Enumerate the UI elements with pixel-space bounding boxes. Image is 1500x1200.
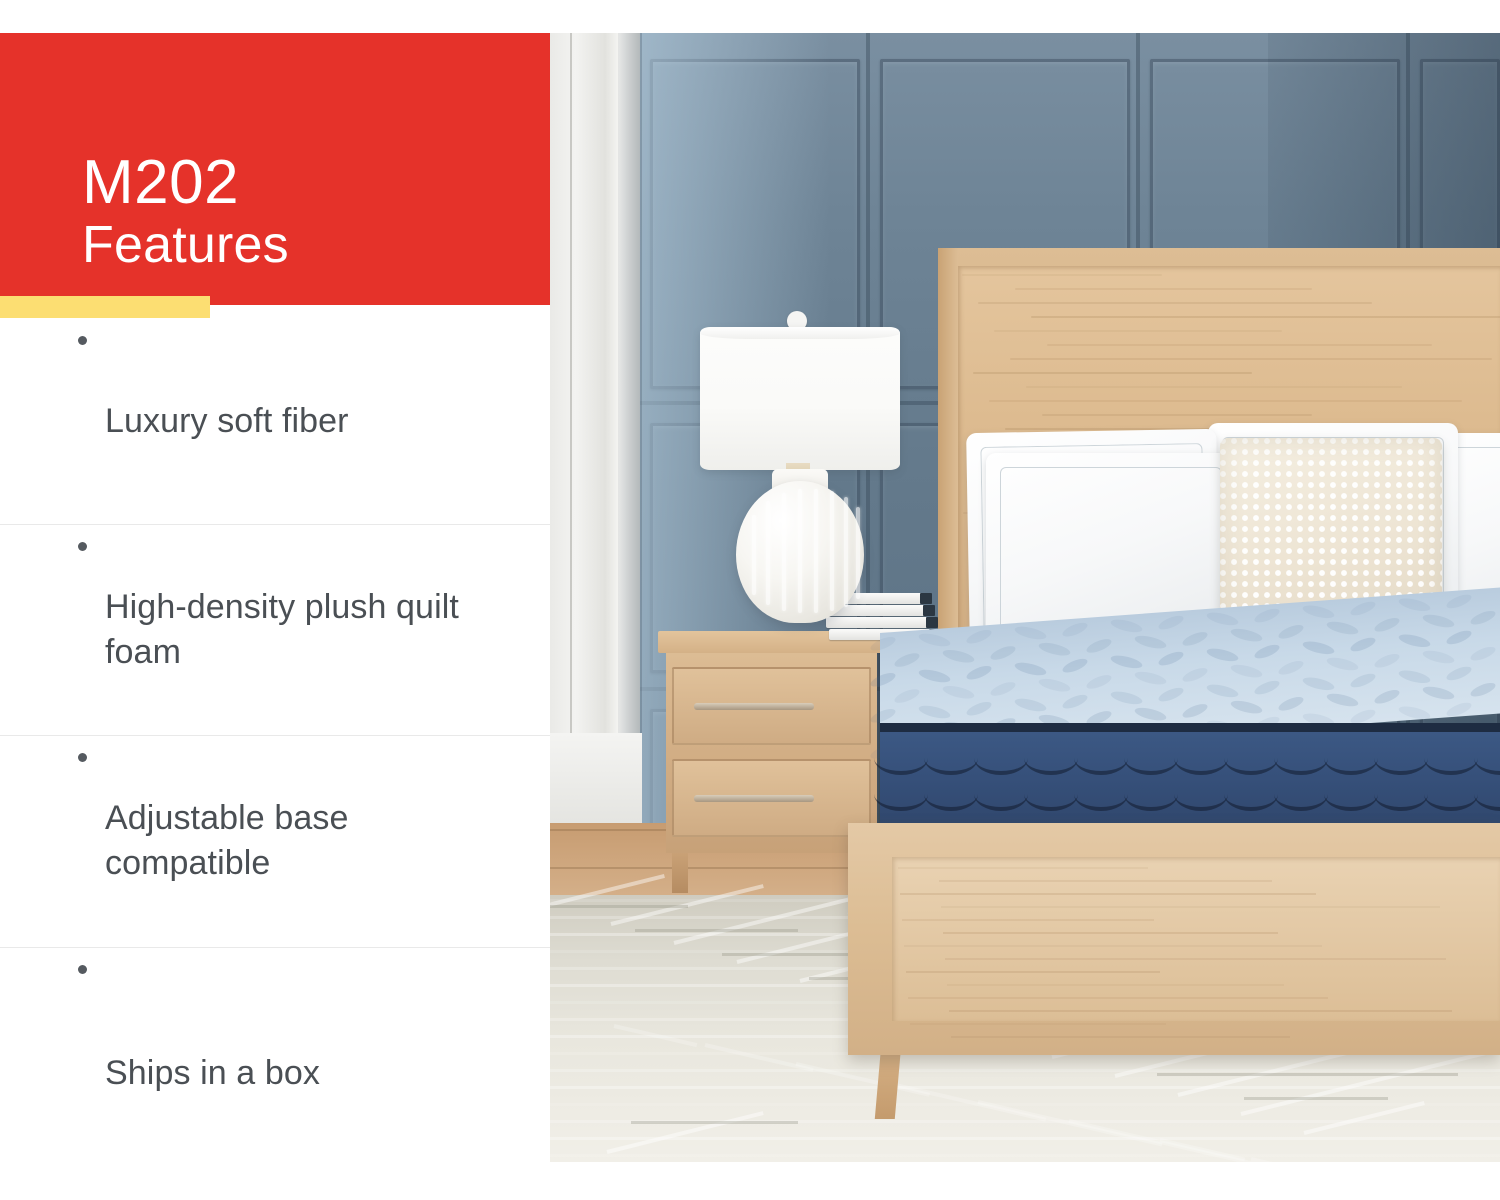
quilt-feather [1445, 664, 1473, 683]
quilt-wave [1324, 777, 1378, 811]
quilt-feather [941, 647, 975, 665]
quilt-feather [1277, 694, 1305, 713]
feature-label: Luxury soft fiber [105, 399, 349, 444]
quilt-feather [1373, 687, 1401, 706]
wood-grain [949, 1010, 1452, 1012]
quilt-feather [1061, 620, 1089, 639]
quilt-feather [1325, 691, 1359, 709]
quilt-feather [1085, 636, 1113, 655]
quilt-feather [1349, 635, 1377, 654]
feature-label: High-density plush quilt foam [105, 585, 505, 675]
quilt-wave [1074, 741, 1128, 775]
mattress-piping [880, 723, 1500, 732]
lamp-rib [830, 491, 834, 611]
quilt-feather [1061, 692, 1089, 711]
quilt-feather [1469, 680, 1497, 699]
wood-grain [947, 984, 1284, 986]
quilt-feather [1061, 656, 1089, 675]
quilt-wave [1424, 777, 1478, 811]
rug-shade-line [631, 1121, 798, 1124]
quilt-feather [1109, 653, 1143, 671]
quilt-feather [1325, 619, 1359, 637]
rug-shade-line [1244, 1097, 1388, 1100]
quilt-wave [924, 741, 978, 775]
quilt-feather [1421, 612, 1455, 630]
quilt-feather [965, 699, 993, 718]
quilt-wave [974, 777, 1028, 811]
rug-line [548, 1103, 1500, 1106]
bedroom-photo [548, 33, 1500, 1162]
drawer-handle-lower [694, 795, 814, 802]
quilt-feather [1469, 644, 1497, 663]
quilt-wave [1224, 777, 1278, 811]
table-lamp [700, 311, 900, 636]
quilt-feather [1277, 622, 1305, 641]
quilt-wave [1424, 741, 1478, 775]
slide-canvas: M202 Features Luxury soft fiber High-den… [0, 0, 1500, 1200]
lamp-rib [752, 515, 756, 595]
quilt-wave [1374, 741, 1428, 775]
quilt-wave [1274, 741, 1328, 775]
quilt-feather [893, 686, 921, 705]
book-spine [926, 617, 938, 628]
wood-grain [1015, 288, 1312, 290]
wood-grain [900, 893, 1316, 895]
wood-grain [973, 372, 1252, 374]
wood-grain [1026, 386, 1402, 388]
quilt-feather [1013, 696, 1047, 714]
page-title-subtitle: Features [82, 215, 522, 275]
quilt-feather [989, 643, 1017, 662]
list-item: Ships in a box [0, 947, 550, 1200]
quilt-feather [1109, 689, 1143, 707]
quilt-feather [1397, 632, 1431, 650]
quilt-feather [941, 683, 975, 701]
quilt-wave [1074, 777, 1128, 811]
quilt-feather [1397, 668, 1431, 686]
book-spine [920, 593, 932, 604]
quilt-feather [1229, 662, 1263, 680]
quilt-wave [1024, 741, 1078, 775]
quilt-feather [917, 631, 951, 649]
quilt-feather [1301, 603, 1335, 621]
quilt-wave [1324, 741, 1378, 775]
lamp-rib [856, 507, 860, 599]
list-item: Adjustable base compatible [0, 735, 550, 947]
quilt-feather [1277, 658, 1305, 677]
quilt-feather [1037, 640, 1071, 658]
quilt-feather [1157, 649, 1185, 668]
quilt-feather [1349, 671, 1377, 690]
lamp-rib [782, 493, 786, 611]
quilt-feather [965, 627, 993, 646]
quilt-feather [1421, 684, 1455, 702]
quilt-feather [1205, 682, 1239, 700]
quilt-feather [1181, 665, 1209, 684]
title-banner: M202 Features [0, 33, 550, 305]
list-item: High-density plush quilt foam [0, 524, 550, 735]
wood-grain [1031, 316, 1500, 318]
left-info-panel: M202 Features Luxury soft fiber High-den… [0, 0, 550, 1200]
baseboard [548, 733, 642, 833]
wood-grain [951, 1036, 1290, 1038]
quilt-feather [1445, 592, 1473, 611]
quilt-wave [1474, 777, 1500, 811]
lamp-shade [700, 327, 900, 470]
title-block: M202 Features [82, 151, 522, 275]
quilt-wave [924, 777, 978, 811]
wood-grain [908, 997, 1328, 999]
rug-shade-line [1157, 1073, 1458, 1076]
quilt-feather [1397, 596, 1431, 614]
wood-grain [943, 932, 1278, 934]
quilt-wave [1224, 741, 1278, 775]
feature-label: Adjustable base compatible [105, 796, 505, 886]
quilt-feather [917, 667, 951, 685]
wood-grain [904, 945, 1322, 947]
rug-chevron [705, 1043, 814, 1072]
wood-grain [1010, 358, 1492, 360]
quilt-feather [1301, 675, 1335, 693]
quilt-wave [1024, 777, 1078, 811]
wood-grain [941, 906, 1440, 908]
quilt-wave [874, 777, 928, 811]
quilt-feather [1229, 626, 1263, 644]
wood-grain [939, 880, 1272, 882]
wood-grain [994, 330, 1282, 332]
rug-chevron [1304, 1101, 1425, 1135]
quilt-wave [1374, 777, 1428, 811]
quilt-feather [1421, 648, 1455, 666]
lamp-rib [844, 497, 848, 607]
quilt-feather [1325, 655, 1359, 673]
lamp-rib [798, 489, 802, 613]
quilt-feather [1205, 610, 1239, 628]
quilt-feather [989, 679, 1017, 698]
quilt-feather [1037, 676, 1071, 694]
wood-grain [945, 958, 1446, 960]
quilt-feather [1253, 642, 1281, 661]
headboard-left-edge [938, 248, 958, 648]
quilt-wave [1124, 777, 1178, 811]
photo-scene [548, 33, 1500, 1162]
quilt-wave [874, 741, 928, 775]
quilt-feather [1229, 698, 1263, 716]
wood-grain [989, 400, 1462, 402]
quilt-feather [965, 663, 993, 682]
rug-chevron [1160, 1138, 1245, 1161]
rug-shade-line [548, 905, 688, 908]
quilt-feather [893, 650, 921, 669]
drawer-handle-upper [694, 703, 814, 710]
wood-grain [910, 1023, 1166, 1025]
feature-label: Ships in a box [105, 1051, 320, 1096]
wood-grain [1042, 414, 1312, 416]
wood-grain [962, 274, 1162, 276]
quilt-feather [1085, 672, 1113, 691]
quilt-wave [1274, 777, 1328, 811]
wood-grain [978, 302, 1372, 304]
quilt-feather [1157, 613, 1185, 632]
wood-grain [898, 867, 1148, 869]
quilt-feather [1253, 678, 1281, 697]
list-item: Luxury soft fiber [0, 318, 550, 524]
quilt-wave [1474, 741, 1500, 775]
bullet-icon [78, 965, 87, 974]
bed-footboard [848, 823, 1500, 1055]
page-title-model: M202 [82, 151, 522, 215]
lamp-ceramic-base [736, 481, 864, 623]
wood-grain [906, 971, 1160, 973]
quilt-feather [1157, 685, 1185, 704]
quilt-feather [1373, 651, 1401, 670]
quilt-feather [1181, 629, 1209, 648]
bullet-icon [78, 753, 87, 762]
wood-grain [1047, 344, 1432, 346]
rug-line [548, 1069, 1500, 1072]
lamp-rib [814, 489, 818, 613]
feature-list: Luxury soft fiber High-density plush qui… [0, 318, 550, 1200]
quilt-feather [1301, 639, 1335, 657]
quilt-feather [917, 703, 951, 721]
book-spine [923, 605, 935, 616]
quilt-feather [1133, 633, 1167, 651]
quilt-feather [1133, 669, 1167, 687]
quilt-wave [1174, 741, 1228, 775]
quilt-feather [1349, 599, 1377, 618]
quilt-feather [1133, 705, 1167, 723]
lamp-rib [766, 501, 770, 605]
accent-bar [0, 296, 210, 318]
quilt-feather [1205, 646, 1239, 664]
bullet-icon [78, 336, 87, 345]
quilt-feather [1181, 701, 1209, 720]
rug-line [548, 1154, 1500, 1157]
rug-chevron [796, 1062, 931, 1097]
rug-shade-line [635, 929, 798, 932]
quilt-feather [1253, 606, 1281, 625]
rug-chevron [607, 1111, 764, 1154]
quilt-feather [1109, 617, 1143, 635]
quilt-feather [1469, 608, 1497, 627]
quilt-feather [1013, 624, 1047, 642]
quilt-wave [1174, 777, 1228, 811]
rug-chevron [1251, 1157, 1362, 1162]
rug-line [548, 1137, 1500, 1140]
quilt-wave [974, 741, 1028, 775]
wood-grain [902, 919, 1154, 921]
bullet-icon [78, 542, 87, 551]
quilt-feather [1445, 628, 1473, 647]
nightstand-leg-left [672, 853, 688, 893]
quilt-feather [1373, 615, 1401, 634]
quilt-wave [1124, 741, 1178, 775]
quilt-feather [1013, 660, 1047, 678]
quilt-feather [1397, 704, 1431, 722]
